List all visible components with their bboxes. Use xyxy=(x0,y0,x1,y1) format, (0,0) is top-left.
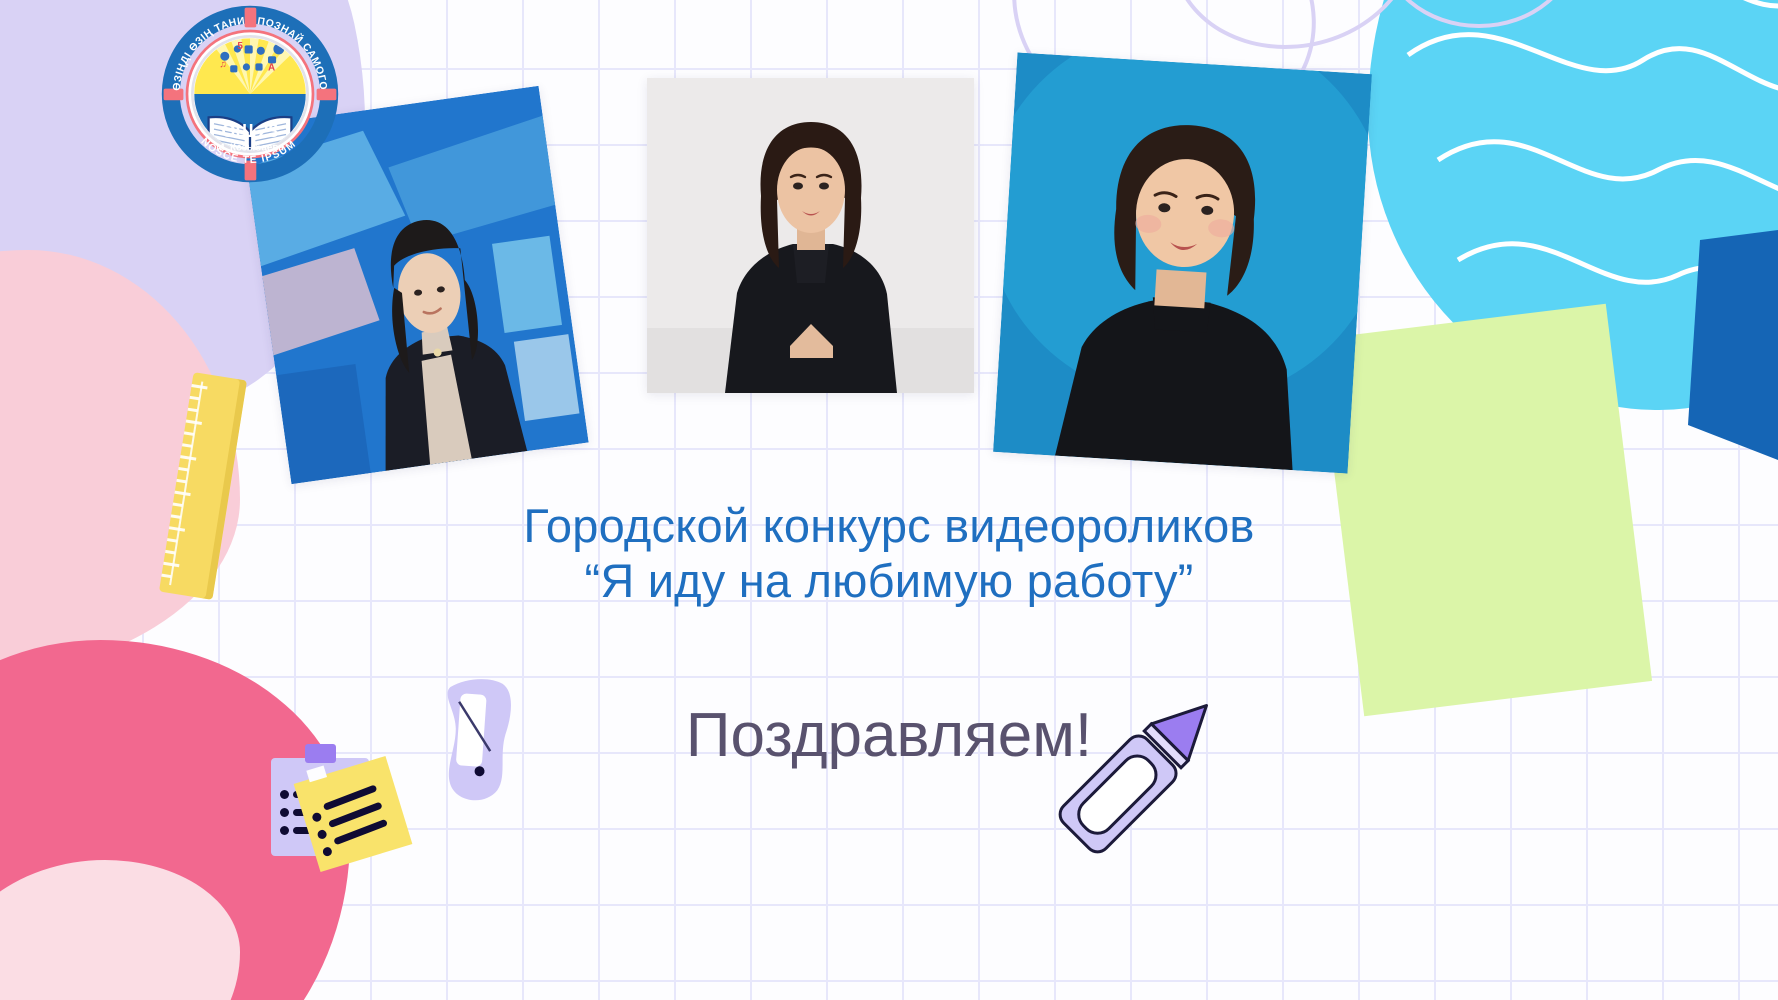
title-line-2: “Я иду на любимую работу” xyxy=(0,553,1778,608)
svg-text:A: A xyxy=(268,63,275,74)
page-title: Городской конкурс видеороликов “Я иду на… xyxy=(0,498,1778,609)
emblem-school-number: ОШ 23 xyxy=(221,121,278,141)
svg-text:5: 5 xyxy=(237,41,243,52)
emblem-school-name: М. Козыбаева xyxy=(216,143,284,154)
school-emblem: 5 ♫ A ӨЗІҢДІ ӨЗІҢ ТАНИ БІЛ xyxy=(160,4,340,184)
photo-winner-2-artwork xyxy=(647,78,974,393)
title-line-1: Городской конкурс видеороликов xyxy=(523,499,1254,552)
photo-winner-3-artwork xyxy=(993,53,1372,474)
dark-blue-shape-decor xyxy=(1688,230,1778,460)
photo-winner-2 xyxy=(647,78,974,393)
slide-canvas: 5 ♫ A ӨЗІҢДІ ӨЗІҢ ТАНИ БІЛ xyxy=(0,0,1778,1000)
congrats-text: Поздравляем! xyxy=(0,700,1778,771)
svg-text:♫: ♫ xyxy=(219,59,226,70)
photo-winner-3 xyxy=(993,53,1372,474)
